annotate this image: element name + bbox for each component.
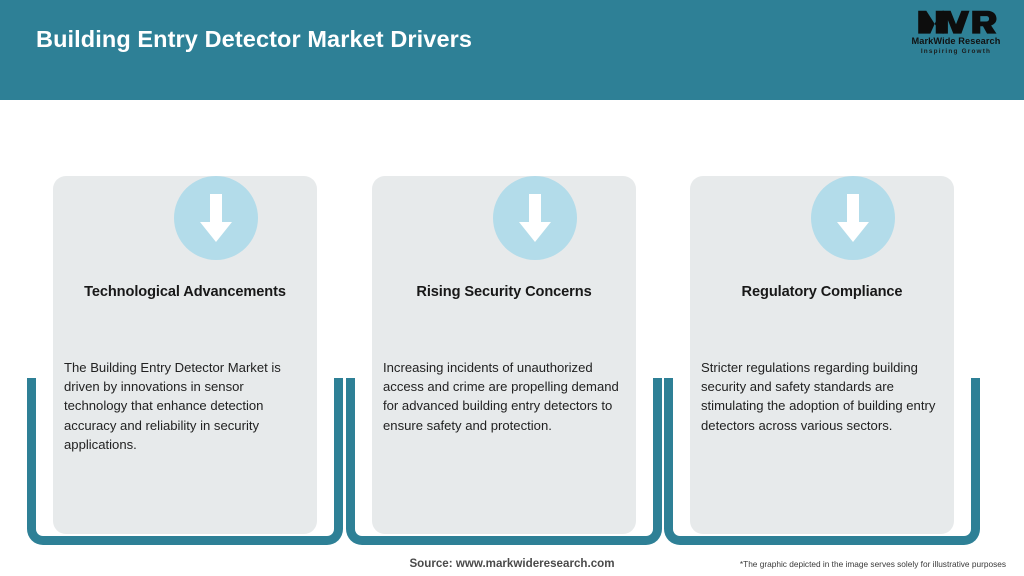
card-panel: Technological Advancements The Building …: [53, 176, 317, 534]
card-title: Technological Advancements: [53, 284, 317, 300]
driver-card-1: Technological Advancements The Building …: [27, 145, 343, 545]
driver-card-2: Rising Security Concerns Increasing inci…: [346, 145, 662, 545]
card-panel: Rising Security Concerns Increasing inci…: [372, 176, 636, 534]
arrow-down-icon: [493, 176, 577, 260]
arrow-down-icon: [174, 176, 258, 260]
card-panel: Regulatory Compliance Stricter regulatio…: [690, 176, 954, 534]
slide-canvas: Building Entry Detector Market Drivers M…: [0, 0, 1024, 576]
card-body-text: The Building Entry Detector Market is dr…: [64, 358, 308, 454]
card-title: Rising Security Concerns: [372, 284, 636, 300]
disclaimer-note: *The graphic depicted in the image serve…: [740, 559, 1006, 569]
card-body-text: Stricter regulations regarding building …: [701, 358, 945, 435]
driver-card-3: Regulatory Compliance Stricter regulatio…: [664, 145, 980, 545]
card-body-text: Increasing incidents of unauthorized acc…: [383, 358, 627, 435]
card-title: Regulatory Compliance: [690, 284, 954, 300]
driver-cards-container: Technological Advancements The Building …: [0, 0, 1024, 576]
arrow-down-icon: [811, 176, 895, 260]
